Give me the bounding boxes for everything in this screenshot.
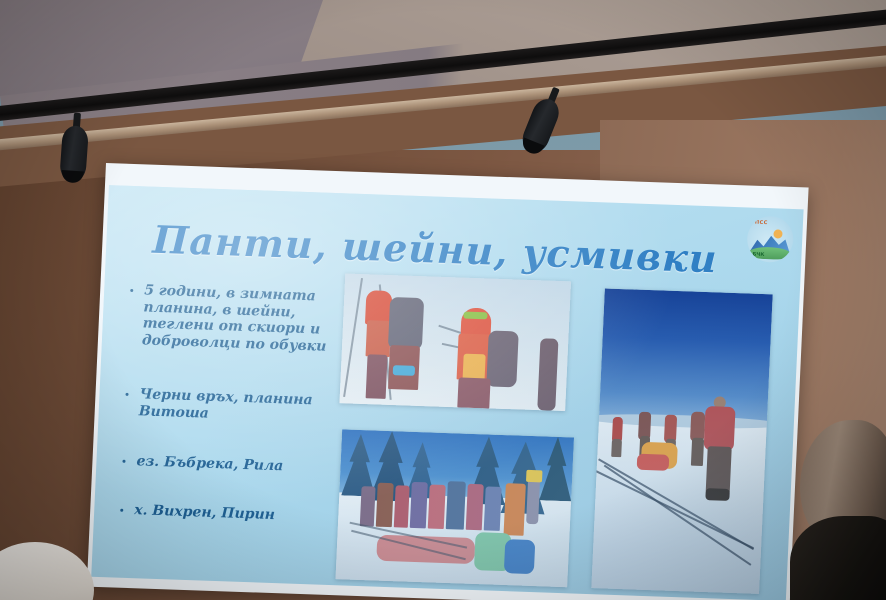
person-figure xyxy=(504,483,526,536)
photo-group-with-sled-in-forest xyxy=(335,429,574,587)
presentation-slide: Панти, шейни, усмивки ПСС БЧК 5 години, … xyxy=(91,185,803,600)
slide-bullet-item: 5 години, в зимната планина, в шейни, те… xyxy=(126,282,369,356)
emblem-sun-icon xyxy=(773,229,782,238)
person-crouching xyxy=(504,539,536,574)
leading-hiker-torso xyxy=(704,406,736,451)
person-figure xyxy=(410,482,428,529)
leading-hiker-legs xyxy=(706,446,732,493)
person-figure xyxy=(466,484,484,531)
skier-figure xyxy=(366,354,388,399)
person-figure xyxy=(394,485,410,527)
emblem-arc-text: ПСС xyxy=(755,220,768,226)
person-figure xyxy=(428,484,446,529)
presentation-room-photo: Панти, шейни, усмивки ПСС БЧК 5 години, … xyxy=(0,0,886,600)
boot xyxy=(705,488,730,501)
photo-skiers-in-mist xyxy=(339,273,571,411)
person-figure xyxy=(484,486,502,531)
person-figure xyxy=(446,481,466,530)
person-figure xyxy=(360,486,376,526)
backpack xyxy=(486,330,519,387)
backpack xyxy=(388,297,424,350)
mountain-rescue-emblem-icon: ПСС БЧК xyxy=(746,215,794,263)
hiker-legs xyxy=(611,439,622,457)
emblem-base-text: БЧК xyxy=(752,252,764,258)
slide-bullet-list: 5 години, в зимната планина, в шейни, те… xyxy=(117,282,369,552)
trail-sign xyxy=(526,470,543,483)
person-figure xyxy=(376,483,394,528)
goggles xyxy=(463,312,487,320)
photo-sky xyxy=(599,288,773,432)
projection-screen: Панти, шейни, усмивки ПСС БЧК 5 години, … xyxy=(87,163,809,600)
slide-bullet-item: ез. Бъбрека, Рила xyxy=(120,453,361,478)
slide-bullet-item: Черни връх, планина Витоша xyxy=(122,386,363,427)
photo-ridge-walk-with-sled xyxy=(591,288,773,594)
slide-title: Панти, шейни, усмивки xyxy=(152,217,714,281)
skier-accessory xyxy=(393,365,415,376)
slide-bullet-item: х. Вихрен, Пирин xyxy=(118,501,359,526)
sled-load xyxy=(637,454,670,471)
skier-legs xyxy=(457,377,490,408)
audience-member-silhouette xyxy=(776,420,886,600)
skier-figure xyxy=(537,338,558,411)
person-shoulder xyxy=(790,516,886,600)
trail-post xyxy=(526,476,540,524)
hiker-legs xyxy=(691,438,704,466)
